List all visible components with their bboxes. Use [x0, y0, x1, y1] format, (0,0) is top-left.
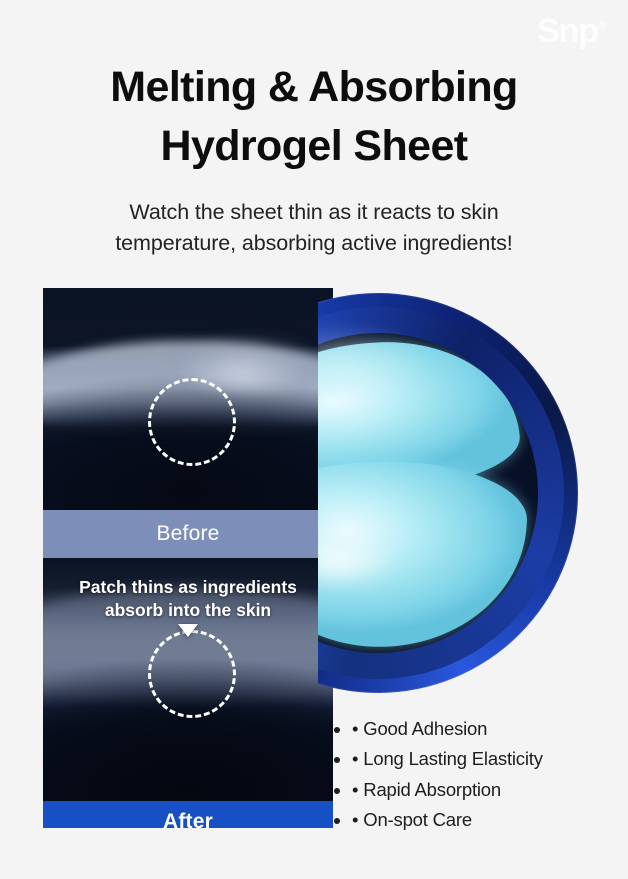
after-label: After: [163, 810, 213, 828]
dashed-circle-icon: [148, 630, 236, 718]
before-photo: [43, 288, 333, 510]
subtitle-line-2: temperature, absorbing active ingredient…: [115, 231, 512, 255]
jar-inner-rim: [318, 307, 564, 679]
feature-label: Good Adhesion: [363, 718, 487, 739]
after-label-band: After: [43, 801, 333, 828]
jar-interior: [318, 333, 538, 653]
bullet-icon: •: [352, 718, 358, 739]
subtitle-line-1: Watch the sheet thin as it reacts to ski…: [129, 200, 498, 224]
feature-label: On-spot Care: [363, 809, 472, 830]
watermark-registered-mark: ®: [598, 19, 606, 33]
title-line-2: Hydrogel Sheet: [0, 117, 628, 176]
overlay-caption: Patch thins as ingredients absorb into t…: [43, 576, 333, 637]
before-label-band: Before: [43, 510, 333, 558]
watermark-text: Snp: [537, 12, 598, 50]
product-jar-image: [318, 293, 580, 695]
header: Melting & Absorbing Hydrogel Sheet Watch…: [0, 58, 628, 260]
feature-list: •Good Adhesion •Long Lasting Elasticity …: [352, 714, 612, 835]
list-item: •Good Adhesion: [352, 714, 612, 744]
arrow-down-icon: [178, 624, 198, 637]
title-line-1: Melting & Absorbing: [0, 58, 628, 117]
dashed-circle-icon: [148, 378, 236, 466]
bullet-icon: •: [352, 748, 358, 769]
before-after-comparison: Before Patch thins as ingredients absorb…: [43, 288, 333, 828]
page-title: Melting & Absorbing Hydrogel Sheet: [0, 58, 628, 177]
brand-watermark: Snp®: [537, 14, 606, 48]
page-subtitle: Watch the sheet thin as it reacts to ski…: [0, 197, 628, 260]
jar-outer-rim: [318, 293, 578, 693]
before-label: Before: [156, 522, 219, 546]
feature-label: Rapid Absorption: [363, 779, 501, 800]
bullet-icon: •: [352, 779, 358, 800]
feature-label: Long Lasting Elasticity: [363, 748, 542, 769]
overlay-caption-line-2: absorb into the skin: [53, 599, 323, 622]
list-item: •Long Lasting Elasticity: [352, 744, 612, 774]
after-photo: Patch thins as ingredients absorb into t…: [43, 558, 333, 801]
bullet-icon: •: [352, 809, 358, 830]
list-item: •Rapid Absorption: [352, 775, 612, 805]
list-item: •On-spot Care: [352, 805, 612, 835]
overlay-caption-line-1: Patch thins as ingredients: [53, 576, 323, 599]
